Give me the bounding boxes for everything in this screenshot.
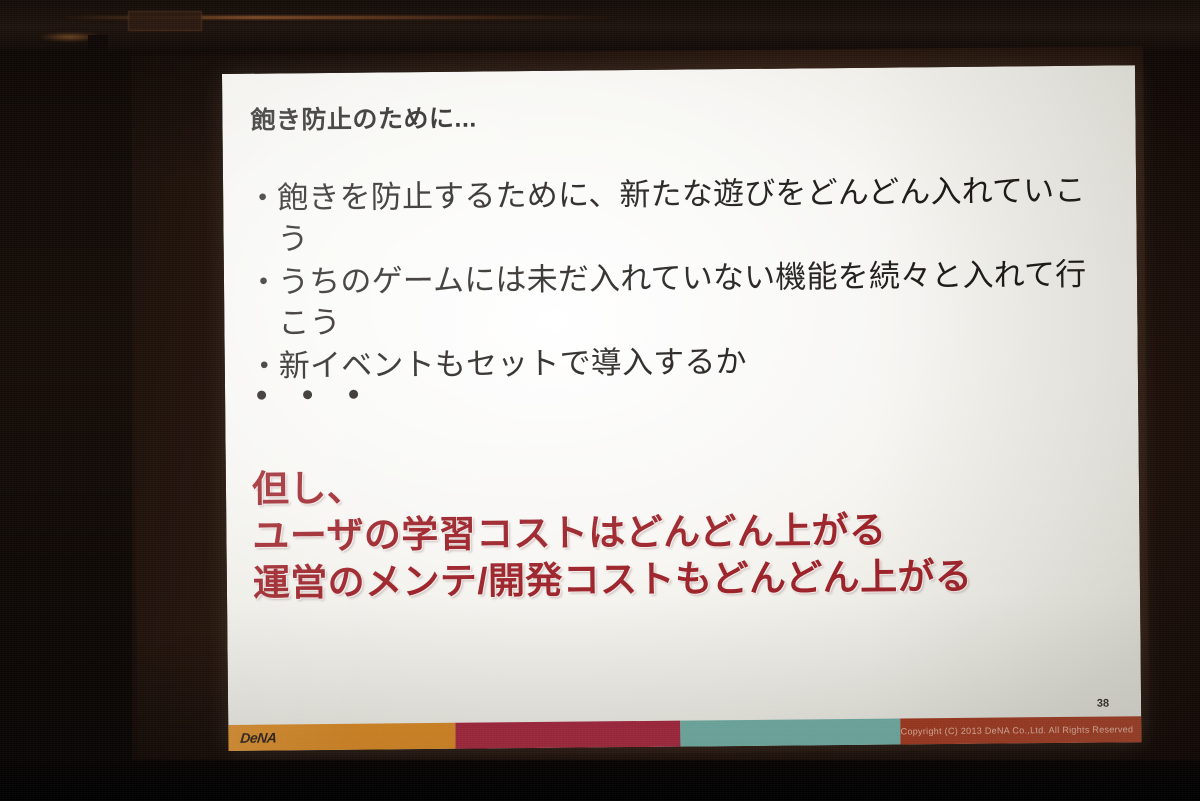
list-item: ・ 飽きを防止するために、新たな遊びをどんどん入れていこう [247,170,1108,260]
list-item: ・ 新イベントもセットで導入するか [249,338,1109,387]
bullet-text: 新イベントもセットで導入するか [279,338,1109,387]
list-item: ・ うちのゲームには未だ入れていない機能を続々と入れて行こう [248,254,1109,344]
dena-logo: DeNA [240,729,278,745]
slide-title: 飽き防止のために... [250,99,477,137]
emphasis-line-2: ユーザの学習コストはどんどん上がる [252,506,972,560]
bullet-marker-icon: ・ [248,261,278,302]
footer-segment-darkred: Copyright (C) 2013 DeNA Co.,Ltd. All Rig… [900,716,1141,744]
page-number: 38 [1097,698,1109,710]
bullet-list: ・ 飽きを防止するために、新たな遊びをどんどん入れていこう ・ うちのゲームには… [247,170,1109,400]
ceiling-sign-box [128,11,202,31]
footer-segment-orange: DeNA [228,723,455,751]
footer-segment-teal [680,719,901,747]
emphasis-block: 但し、 ユーザの学習コストはどんどん上がる 運営のメンテ/開発コストもどんどん上… [252,459,973,607]
photo-scene: 飽き防止のために... ・ 飽きを防止するために、新たな遊びをどんどん入れていこ… [0,0,1200,801]
left-wall-shadow [0,50,132,801]
continuation-dot-icon [257,391,266,400]
continuation-dot-icon [303,390,312,399]
slide-content: 飽き防止のために... ・ 飽きを防止するために、新たな遊びをどんどん入れていこ… [222,65,1141,751]
emphasis-line-1: 但し、 [252,459,972,513]
bullet-marker-icon: ・ [249,345,279,386]
projected-slide: 飽き防止のために... ・ 飽きを防止するために、新たな遊びをどんどん入れていこ… [222,65,1141,751]
bullet-text: うちのゲームには未だ入れていない機能を続々と入れて行こう [278,254,1109,344]
copyright-text: Copyright (C) 2013 DeNA Co.,Ltd. All Rig… [901,724,1134,736]
bullet-text: 飽きを防止するために、新たな遊びをどんどん入れていこう [277,170,1108,260]
bullet-marker-icon: ・ [247,177,277,218]
ceiling-vent [88,35,108,51]
continuation-dot-icon [349,390,358,399]
footer-segment-crimson [455,721,680,749]
emphasis-line-3: 運営のメンテ/開発コストもどんどん上がる [253,553,973,607]
floor-shadow [0,760,1200,801]
